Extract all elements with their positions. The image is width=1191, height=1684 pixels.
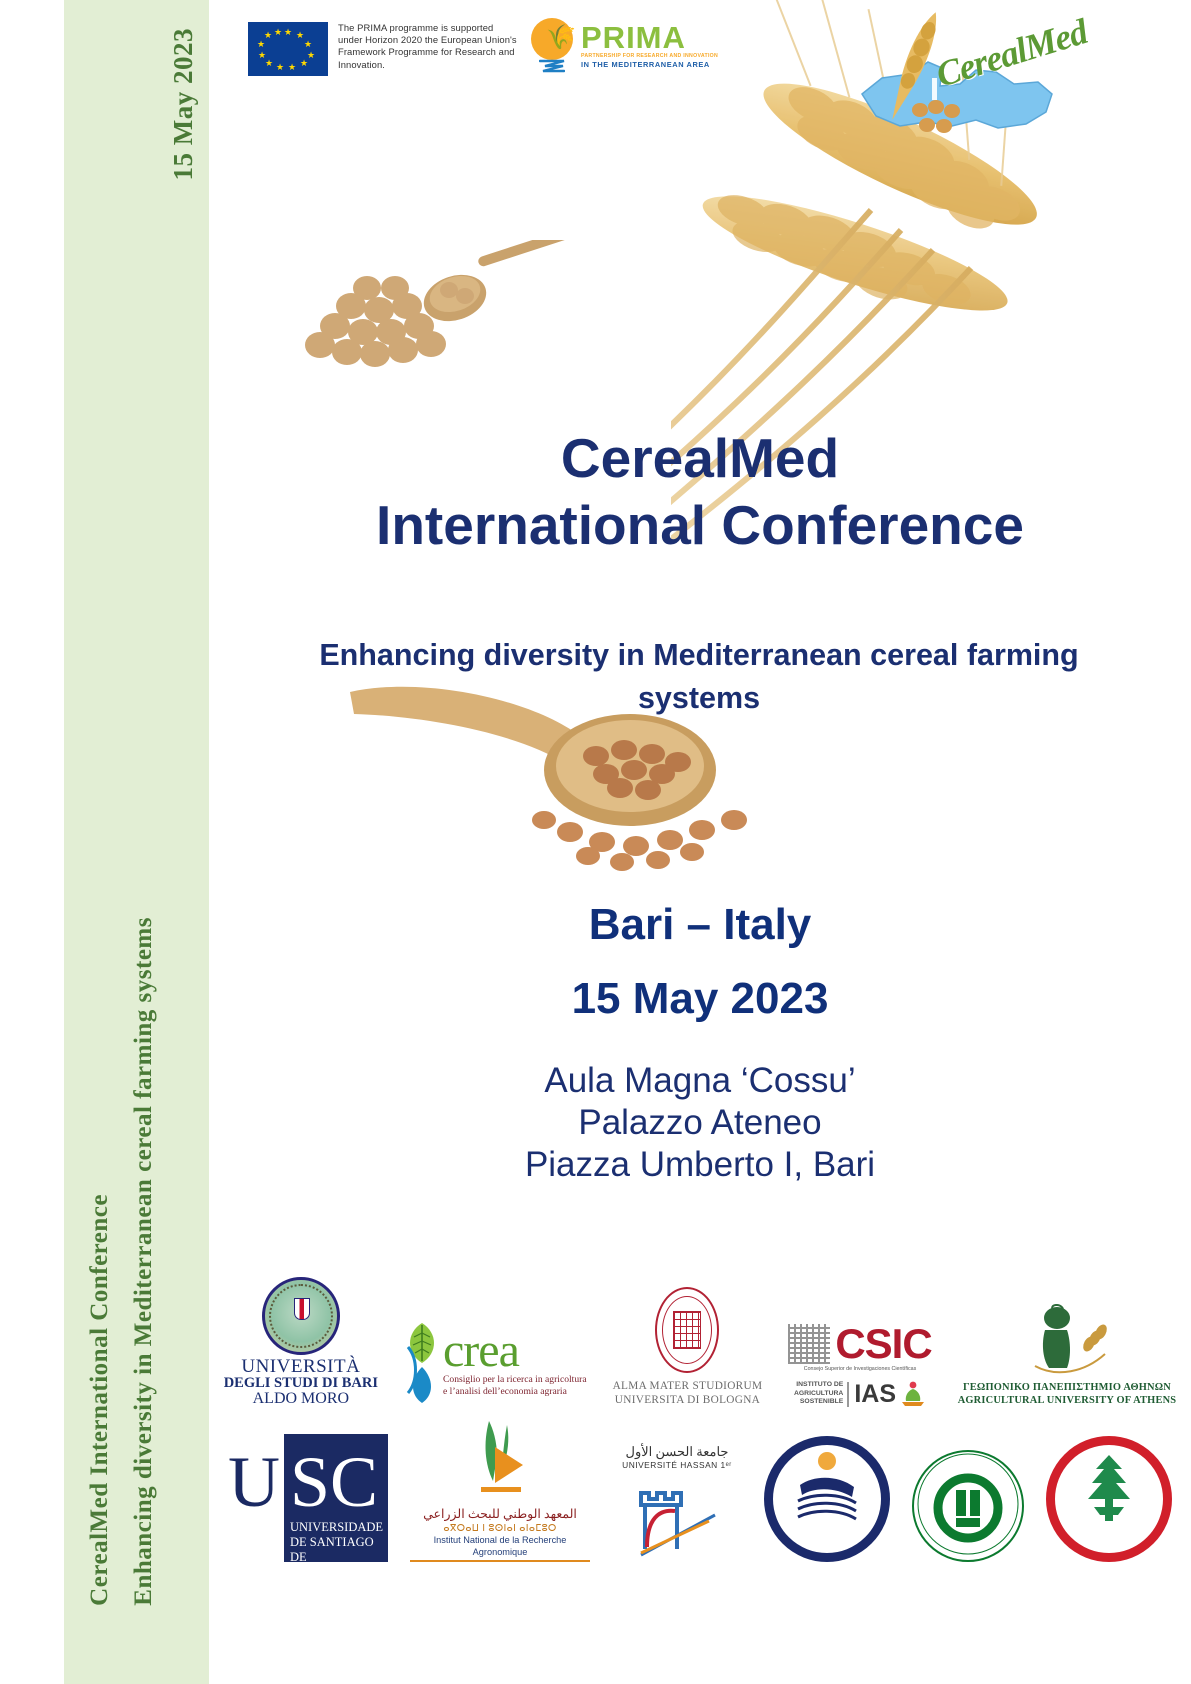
csic-wordmark: CSIC [835, 1324, 931, 1364]
aua-demeter-icon [1023, 1304, 1111, 1376]
cukurova-seal-icon [912, 1450, 1024, 1562]
partner-logo-row-2: U SC UNIVERSIDADE DE SANTIAGO DE COMPOST… [209, 1412, 1191, 1562]
ias-wordmark: IAS [847, 1382, 896, 1407]
aua-line-1: ΓΕΩΠΟΝΙΚΟ ΠΑΝΕΠΙΣΤΗΜΙΟ ΑΘΗΝΩΝ [958, 1381, 1177, 1394]
cereal-grains-icon [910, 98, 970, 138]
logo-csic-ias: CSIC Consejo Superior de Investigaciones… [788, 1324, 931, 1407]
conference-location: Bari – Italy [209, 888, 1191, 962]
logo-crea: crea Consiglio per la ricerca in agricol… [404, 1319, 587, 1407]
logo-universita-di-bari: UNIVERSITÀ DEGLI STUDI DI BARI ALDO MORO [224, 1277, 378, 1407]
sidebar-conference-text: CerealMed International Conference [86, 1194, 114, 1606]
partner-logos: UNIVERSITÀ DEGLI STUDI DI BARI ALDO MORO [209, 1262, 1191, 1662]
aub-cedar-emblem [1064, 1445, 1154, 1535]
hassan1-arabic-name: جامعة الحسن الأول [612, 1444, 742, 1460]
inra-arabic-name: المعهد الوطني للبحث الزراعي [410, 1506, 590, 1522]
conference-subtitle: Enhancing diversity in Mediterranean cer… [259, 634, 1139, 720]
uniba-line-1: UNIVERSITÀ [224, 1359, 378, 1375]
crea-wordmark: crea [443, 1328, 587, 1374]
eu-funding-note: The PRIMA programme is supported under H… [338, 22, 518, 71]
title-line-2: International Conference [209, 492, 1191, 559]
uniba-line-3: ALDO MORO [224, 1391, 378, 1407]
logo-usc: U SC UNIVERSIDADE DE SANTIAGO DE COMPOST… [228, 1434, 388, 1562]
usc-letters-sc: SC [290, 1450, 378, 1514]
unibo-line-2: UNIVERSITA DI BOLOGNA [613, 1393, 763, 1407]
beni-suef-emblem [782, 1445, 872, 1535]
european-union-flag-icon: ★ ★ ★ ★ ★ ★ ★ ★ ★ ★ ★ ★ [248, 22, 328, 76]
csic-sub: Consejo Superior de Investigaciones Cien… [788, 1366, 931, 1373]
csic-grid-icon [788, 1324, 830, 1364]
crea-sub-line-1: Consiglio per la ricerca in agricoltura [443, 1374, 587, 1386]
ias-sprout-icon [900, 1381, 926, 1407]
unibo-line-1: ALMA MATER STUDIORUM [613, 1379, 763, 1393]
beni-suef-seal-icon [764, 1436, 890, 1562]
usc-line-1: UNIVERSIDADE [290, 1520, 388, 1535]
partner-logo-row-1: UNIVERSITÀ DEGLI STUDI DI BARI ALDO MORO [209, 1262, 1191, 1407]
logo-agricultural-university-of-athens: ΓΕΩΠΟΝΙΚΟ ΠΑΝΕΠΙΣΤΗΜΙΟ ΑΘΗΝΩΝ AGRICULTUR… [958, 1304, 1177, 1407]
usc-line-3: DE COMPOSTELA [290, 1550, 388, 1580]
crea-leaf-drop-icon [404, 1319, 440, 1407]
conference-title: CerealMed International Conference [209, 425, 1191, 559]
unibo-seal-icon [655, 1287, 719, 1373]
usc-letter-u: U [228, 1450, 280, 1514]
sidebar-subtitle-text: Enhancing diversity in Mediterranean cer… [130, 917, 158, 1606]
venue-line-2: Palazzo Ateneo [209, 1102, 1191, 1144]
aub-seal-icon [1046, 1436, 1172, 1562]
cukurova-emblem [916, 1452, 1020, 1556]
crea-sub-line-2: e l’analisi dell’economia agraria [443, 1386, 587, 1398]
aua-line-2: AGRICULTURAL UNIVERSITY OF ATHENS [958, 1394, 1177, 1407]
prima-bulb-wheat-icon: 🌾 [529, 18, 575, 74]
water-wave-icon [539, 58, 565, 74]
conference-date: 15 May 2023 [209, 962, 1191, 1036]
chickpea-pile-illustration [295, 240, 585, 380]
logo-cukurova-universitesi [912, 1450, 1024, 1562]
venue-line-1: Aula Magna ‘Cossu’ [209, 1060, 1191, 1102]
inra-leaf-arrow-icon [463, 1417, 537, 1501]
prima-logo: 🌾 PRIMA PARTNERSHIP FOR RESEARCH AND INN… [529, 18, 718, 74]
ias-line-3: SOSTENIBLE [794, 1398, 843, 1407]
logo-inra-morocco: المعهد الوطني للبحث الزراعي ⴰⴳⵔⴰⵡ ⵏ ⵓⵙⵏⴰ… [410, 1417, 590, 1562]
hassan1-tower-icon [631, 1475, 723, 1557]
ias-line-2: AGRICULTURA [794, 1390, 843, 1399]
subtitle-line-1: Enhancing diversity in Mediterranean cer… [319, 638, 958, 672]
ias-line-1: INSTITUTO DE [794, 1381, 843, 1390]
prima-tagline-line1: PARTNERSHIP FOR RESEARCH AND INNOVATION [581, 53, 718, 60]
logo-universite-hassan-1: جامعة الحسن الأول UNIVERSITÉ HASSAN 1ᵉʳ [612, 1444, 742, 1562]
logo-american-university-of-beirut [1046, 1436, 1172, 1562]
logo-universita-di-bologna: ALMA MATER STUDIORUM UNIVERSITA DI BOLOG… [613, 1287, 763, 1407]
eu-funding-block: ★ ★ ★ ★ ★ ★ ★ ★ ★ ★ ★ ★ The PRIMA progra… [248, 22, 518, 76]
inra-tifinagh-name: ⴰⴳⵔⴰⵡ ⵏ ⵓⵙⵏⴰⵏ ⴰⵏⴰⵎⵓⵔ [410, 1522, 590, 1534]
prima-tagline-line2: IN THE MEDITERRANEAN AREA [581, 60, 718, 69]
cerealmed-project-logo: CerealMed [846, 2, 1076, 152]
funding-logo-bar: ★ ★ ★ ★ ★ ★ ★ ★ ★ ★ ★ ★ The PRIMA progra… [209, 0, 1191, 180]
chickpeas-and-wooden-spoon-photo [295, 240, 585, 380]
conference-place-and-date: Bari – Italy 15 May 2023 [209, 888, 1191, 1036]
inra-french-name: Institut National de la Recherche Agrono… [410, 1534, 590, 1562]
uniba-line-2: DEGLI STUDI DI BARI [224, 1375, 378, 1391]
title-line-1: CerealMed [561, 427, 839, 489]
usc-line-2: DE SANTIAGO [290, 1535, 388, 1550]
venue-line-3: Piazza Umberto I, Bari [209, 1144, 1191, 1186]
logo-beni-suef-university [764, 1436, 890, 1562]
conference-poster: 15 May 2023 CerealMed International Conf… [0, 0, 1191, 1684]
sidebar-date-text: 15 May 2023 [168, 28, 199, 180]
hassan1-french-name: UNIVERSITÉ HASSAN 1ᵉʳ [612, 1460, 742, 1471]
prima-wordmark: PRIMA [581, 23, 718, 53]
conference-venue: Aula Magna ‘Cossu’ Palazzo Ateneo Piazza… [209, 1060, 1191, 1186]
uniba-seal-icon [262, 1277, 340, 1355]
left-sidebar-band: 15 May 2023 CerealMed International Conf… [64, 0, 209, 1684]
